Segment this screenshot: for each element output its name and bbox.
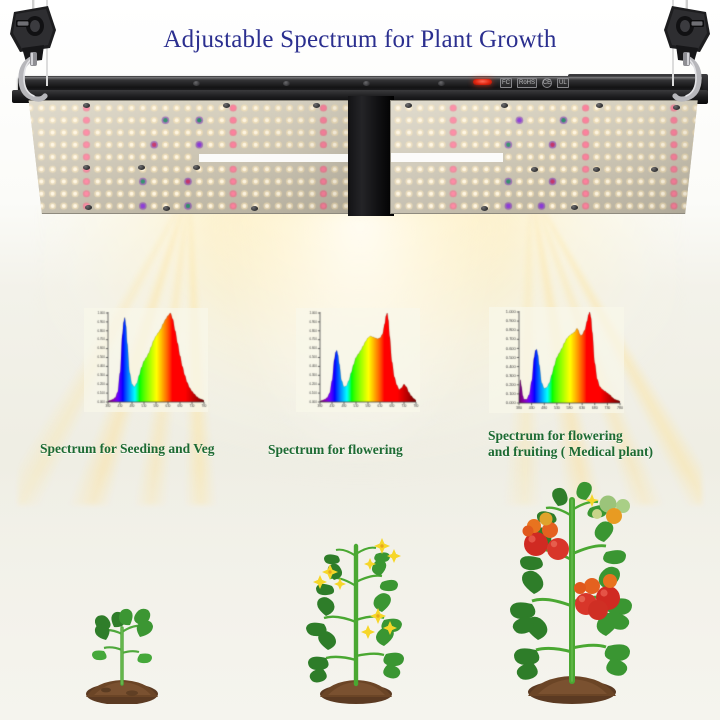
chart-caption-seeding-veg: Spectrum for Seeding and Veg: [40, 441, 270, 457]
center-heatsink-spine: [348, 96, 394, 216]
chart-canvas: [489, 307, 624, 413]
panel-screw: [193, 165, 200, 170]
mount-knob: [193, 81, 200, 86]
panel-strip: [199, 154, 349, 162]
chart-frame: [84, 308, 208, 412]
chart-frame: [296, 308, 420, 412]
chart-canvas: [84, 308, 208, 412]
caption-line: Spectrum for flowering: [488, 428, 708, 444]
panel-screw: [223, 103, 230, 108]
chart-caption-flowering-fruiting: Spectrum for flowering and fruiting ( Me…: [488, 428, 708, 460]
flowering-tomato-plant: [292, 524, 420, 711]
chart-canvas: [296, 308, 420, 412]
panel-strip: [391, 153, 503, 162]
panel-screw: [83, 165, 90, 170]
spectrum-chart-flowering: [296, 308, 420, 412]
mount-knob: [283, 81, 290, 86]
spectrum-chart-flowering-fruiting: [489, 307, 624, 413]
certification-marks: FC RoHS CE UL: [500, 78, 569, 88]
cert-mark: UL: [557, 78, 569, 88]
cert-mark: FC: [500, 78, 512, 88]
panel-screw: [593, 167, 600, 172]
caption-line: Spectrum for flowering: [268, 442, 468, 458]
fruit-cluster-upper-left: [523, 513, 570, 561]
panel-screw: [313, 103, 320, 108]
led-panel-right: [390, 100, 704, 214]
panel-screw: [138, 165, 145, 170]
cert-mark: CE: [542, 78, 552, 88]
led-panel-left: [22, 100, 354, 214]
mount-knob: [363, 81, 370, 86]
panel-screw: [83, 103, 90, 108]
panel-screw: [251, 206, 258, 211]
page-title: Adjustable Spectrum for Plant Growth: [0, 26, 720, 54]
spectrum-chart-seeding-veg: [84, 308, 208, 412]
mount-knob: [438, 81, 445, 86]
panel-screw: [85, 205, 92, 210]
panel-screw: [163, 206, 170, 211]
panel-screw: [501, 103, 508, 108]
seedling-plant: [70, 598, 174, 709]
led-grow-light-fixture: FC RoHS CE UL: [8, 76, 712, 224]
power-indicator-led: [473, 79, 492, 85]
panel-screw: [596, 103, 603, 108]
bar-sheen: [18, 77, 702, 80]
infographic-stage: Adjustable Spectrum for Plant Growth: [0, 0, 720, 720]
caption-line: Spectrum for Seeding and Veg: [40, 441, 270, 457]
chart-caption-flowering: Spectrum for flowering: [268, 442, 468, 458]
panel-screw: [651, 167, 658, 172]
panel-screw: [481, 206, 488, 211]
panel-screw: [571, 205, 578, 210]
chart-frame: [489, 307, 624, 413]
panel-screw: [405, 103, 412, 108]
panel-screw: [531, 167, 538, 172]
caption-line: and fruiting ( Medical plant): [488, 444, 708, 460]
panel-screw: [673, 105, 680, 110]
fruiting-tomato-plant: [492, 476, 652, 711]
cert-mark: RoHS: [517, 78, 537, 88]
